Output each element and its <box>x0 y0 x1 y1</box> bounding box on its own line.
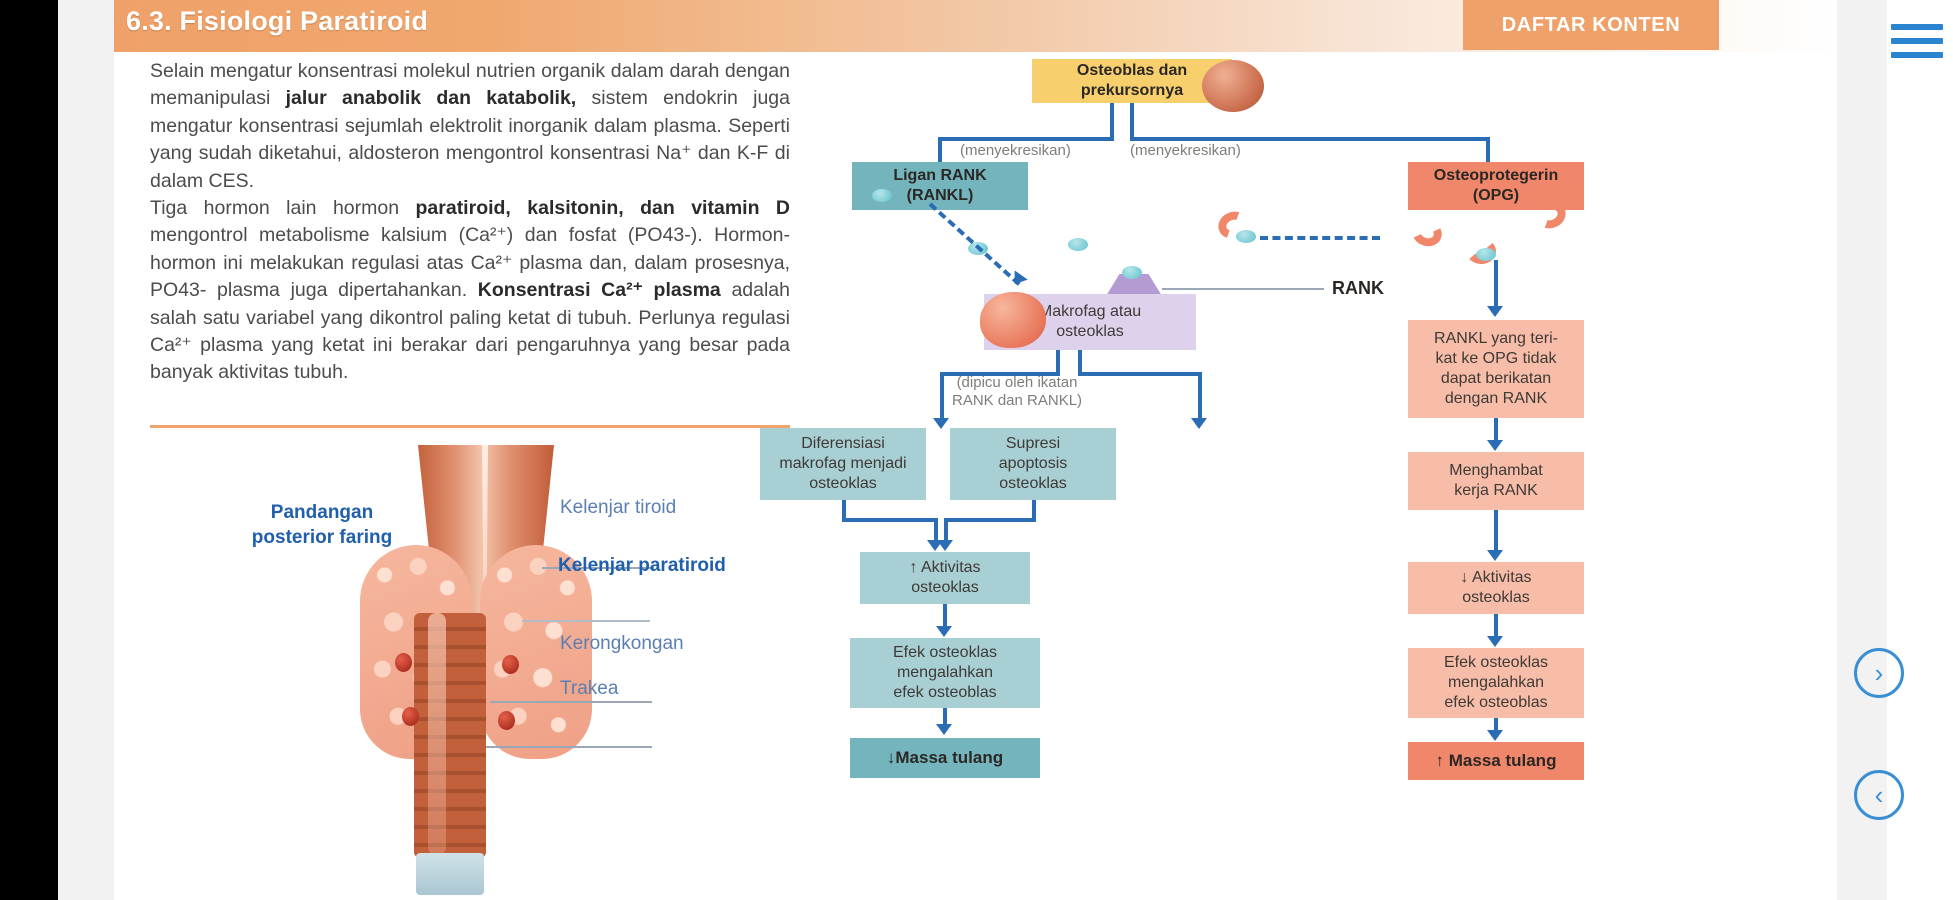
osteoblast-line-2: prekursornya <box>1081 81 1183 101</box>
par2-part-a: Tiga hormon lain hormon <box>150 197 416 219</box>
trigger-line-1: (dipicu oleh ikatan <box>952 374 1082 392</box>
right-effect-line-1: Efek osteoklas <box>1444 653 1548 673</box>
arrowhead-to-effect-right <box>1487 636 1503 647</box>
table-of-contents-button[interactable]: DAFTAR KONTEN <box>1463 0 1719 50</box>
left-effect-line-1: Efek osteoklas <box>893 643 997 663</box>
parathyroid-gland-dot <box>402 707 419 726</box>
connector-opg-to-complex <box>1494 260 1498 310</box>
app-root: 6.3. Fisiologi Paratiroid DAFTAR KONTEN … <box>0 0 1953 900</box>
hamburger-bar-1 <box>1891 24 1943 30</box>
opg-line-2: (OPG) <box>1473 186 1519 206</box>
flow-box-osteoclast-activity-down: ↓ Aktivitas osteoklas <box>1408 562 1584 614</box>
leader-line-rank <box>1162 288 1324 290</box>
left-activity-line-2: osteoklas <box>911 578 979 598</box>
inhibit-line-1: Menghambat <box>1449 461 1542 481</box>
right-activity-line-2: osteoklas <box>1462 588 1530 608</box>
connector-left-horiz <box>938 137 1114 141</box>
connector-macro-right-drop <box>1198 372 1202 422</box>
connector-right-stem <box>1130 103 1134 141</box>
suppression-line-3: osteoklas <box>999 474 1067 494</box>
trachea-highlight <box>428 613 446 855</box>
leader-line-trachea <box>486 746 652 748</box>
connector-right-horiz <box>1130 137 1490 141</box>
connector-macro-left-drop <box>940 372 944 422</box>
differentiation-line-1: Diferensiasi <box>801 434 885 454</box>
article-paragraph-2: Tiga hormon lain hormon paratiroid, kals… <box>150 195 790 387</box>
arrowhead-to-mass-right <box>1487 730 1503 741</box>
arrowhead-to-differentiation <box>933 418 949 429</box>
par1-bold: jalur anabolik dan katabolik, <box>286 87 577 109</box>
arrowhead-to-inhibit <box>1487 440 1503 451</box>
label-rank: RANK <box>1332 278 1384 299</box>
opg-line-1: Osteoprotegerin <box>1434 166 1558 186</box>
rankl-opg-line-2: kat ke OPG tidak <box>1436 349 1557 369</box>
right-toolbar <box>1887 0 1953 900</box>
leader-line-parathyroid <box>522 620 650 622</box>
label-kelenjar-paratiroid: Kelenjar paratiroid <box>558 555 726 577</box>
connector-diff-horiz <box>842 518 938 522</box>
rankl-ligand-icon <box>872 189 892 202</box>
left-gutter <box>58 0 114 900</box>
caption-secrete-left: (menyekresikan) <box>960 142 1071 160</box>
differentiation-line-3: osteoklas <box>809 474 877 494</box>
arrowhead-rankl-to-rank <box>1008 270 1027 288</box>
trachea-distal-tip <box>416 853 484 895</box>
flow-box-suppression: Supresi apoptosis osteoklas <box>950 428 1116 500</box>
left-effect-line-2: mengalahkan <box>897 663 993 683</box>
caption-trigger: (dipicu oleh ikatan RANK dan RANKL) <box>952 374 1082 410</box>
flow-box-rankl-bound-opg: RANKL yang teri- kat ke OPG tidak dapat … <box>1408 320 1584 418</box>
bound-rankl-ligand-icon <box>1476 248 1496 261</box>
free-ligand-icon <box>1236 230 1256 243</box>
page-title: 6.3. Fisiologi Paratiroid <box>126 6 428 37</box>
arrowhead-to-suppression <box>1191 418 1207 429</box>
left-activity-line-1: ↑ Aktivitas <box>909 558 980 578</box>
arrowhead-to-mass-left <box>936 724 952 735</box>
opg-molecule-icon <box>1408 216 1445 251</box>
trigger-line-2: RANK dan RANKL) <box>952 392 1082 410</box>
connector-inhibit-to-activity <box>1494 510 1498 554</box>
hamburger-menu-icon[interactable] <box>1889 20 1945 62</box>
arrowhead-merge-right <box>937 540 953 551</box>
hamburger-bar-3 <box>1891 52 1943 58</box>
diffusion-dashes-right <box>1260 236 1380 240</box>
trachea-illustration <box>414 613 486 858</box>
arrowhead-to-rankl-opg-box <box>1487 306 1503 317</box>
right-effect-line-2: mengalahkan <box>1448 673 1544 693</box>
next-page-button[interactable]: › <box>1854 648 1904 698</box>
rankl-opg-line-4: dengan RANK <box>1445 389 1547 409</box>
suppression-line-2: apoptosis <box>999 454 1068 474</box>
label-trakea: Trakea <box>560 678 618 700</box>
macrophage-line-1: Makrofag atau <box>1039 302 1141 322</box>
flow-box-osteoclast-activity-up: ↑ Aktivitas osteoklas <box>860 552 1030 604</box>
caption-secrete-right: (menyekresikan) <box>1130 142 1241 160</box>
rank-bound-ligand-icon <box>1122 266 1142 279</box>
diffusion-dashes-left <box>929 203 1021 286</box>
article-paragraph-1: Selain mengatur konsentrasi molekul nutr… <box>150 58 790 195</box>
macrophage-cell-icon <box>980 292 1046 348</box>
flow-box-rankl: Ligan RANK (RANKL) <box>852 162 1028 210</box>
inhibit-line-2: kerja RANK <box>1454 481 1538 501</box>
arrowhead-to-activity-right <box>1487 550 1503 561</box>
section-divider <box>150 425 790 428</box>
label-kerongkongan: Kerongkongan <box>560 633 684 655</box>
thyroid-anatomy-figure: Pandangan posterior faring Kelenjar tiro… <box>150 445 810 900</box>
flow-box-bone-mass-increase: ↑ Massa tulang <box>1408 742 1584 780</box>
label-kelenjar-tiroid: Kelenjar tiroid <box>560 497 676 519</box>
rankl-opg-line-1: RANKL yang teri- <box>1434 329 1558 349</box>
hamburger-bar-2 <box>1891 38 1943 44</box>
rank-rankl-opg-flowchart: Osteoblas dan prekursornya (menyekresika… <box>820 52 1830 900</box>
right-activity-line-1: ↓ Aktivitas <box>1460 568 1531 588</box>
flow-box-bone-mass-decrease: ↓Massa tulang <box>850 738 1040 778</box>
left-effect-line-3: efek osteoblas <box>893 683 996 703</box>
arrowhead-to-effect-left <box>936 626 952 637</box>
connector-left-stem <box>1110 103 1114 141</box>
par2-bold-1: paratiroid, kalsitonin, dan vitamin D <box>416 197 791 219</box>
left-letterbox <box>0 0 58 900</box>
connector-supr-horiz <box>944 518 1036 522</box>
par2-bold-2: Konsentrasi Ca²⁺ plasma <box>478 279 721 301</box>
rankl-opg-line-3: dapat berikatan <box>1441 369 1551 389</box>
suppression-line-1: Supresi <box>1006 434 1060 454</box>
previous-page-button[interactable]: ‹ <box>1854 770 1904 820</box>
right-gutter <box>1837 0 1887 900</box>
connector-macro-right-horiz <box>1078 372 1202 376</box>
leader-line-esophagus <box>490 701 652 703</box>
flow-box-inhibit-rank: Menghambat kerja RANK <box>1408 452 1584 510</box>
view-caption-line-1: Pandangan <box>212 500 432 525</box>
flow-box-differentiation: Diferensiasi makrofag menjadi osteoklas <box>760 428 926 500</box>
rankl-line-1: Ligan RANK <box>893 166 986 186</box>
macrophage-line-2: osteoklas <box>1056 322 1124 342</box>
parathyroid-gland-dot <box>502 655 519 674</box>
flow-box-osteoclast-effect-right: Efek osteoklas mengalahkan efek osteobla… <box>1408 648 1584 718</box>
rankl-line-2: (RANKL) <box>907 186 974 206</box>
right-effect-line-3: efek osteoblas <box>1444 693 1547 713</box>
free-ligand-icon <box>1068 238 1088 251</box>
figure-view-caption: Pandangan posterior faring <box>212 500 432 550</box>
parathyroid-gland-dot <box>395 653 412 672</box>
parathyroid-gland-dot <box>498 711 515 730</box>
view-caption-line-2: posterior faring <box>212 525 432 550</box>
flow-box-osteoclast-effect-left: Efek osteoklas mengalahkan efek osteobla… <box>850 638 1040 708</box>
differentiation-line-2: makrofag menjadi <box>779 454 906 474</box>
article-text-column: Selain mengatur konsentrasi molekul nutr… <box>150 58 790 387</box>
osteoblast-line-1: Osteoblas dan <box>1077 61 1187 81</box>
osteoblast-cell-icon <box>1202 60 1264 112</box>
